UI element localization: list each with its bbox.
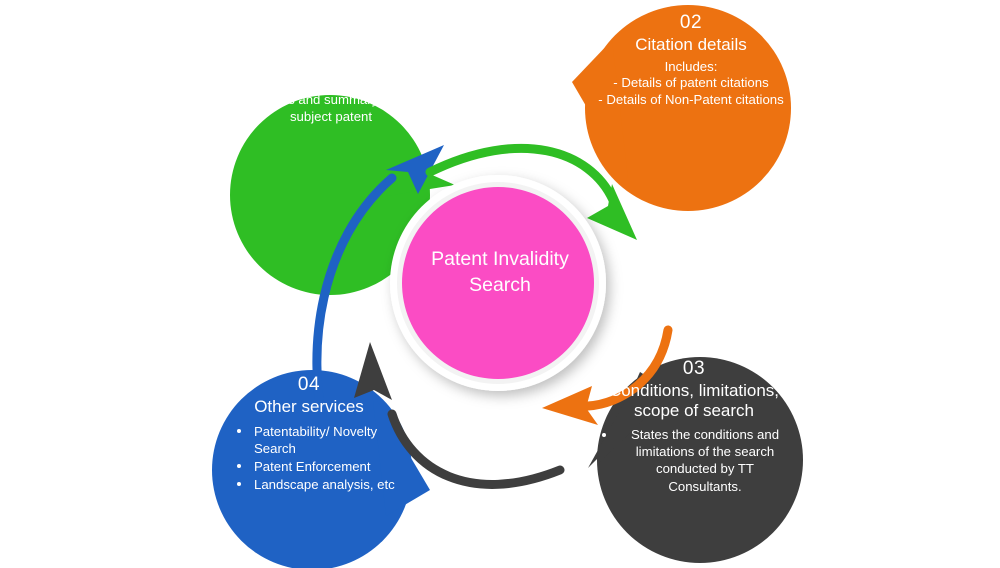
diagram-canvas: 01 Report Contains the objective, key fe…: [0, 0, 1000, 568]
diagram-graphics: [0, 0, 1000, 568]
hub-circle[interactable]: [390, 175, 606, 391]
node-shape-03-conditions[interactable]: [588, 357, 803, 563]
